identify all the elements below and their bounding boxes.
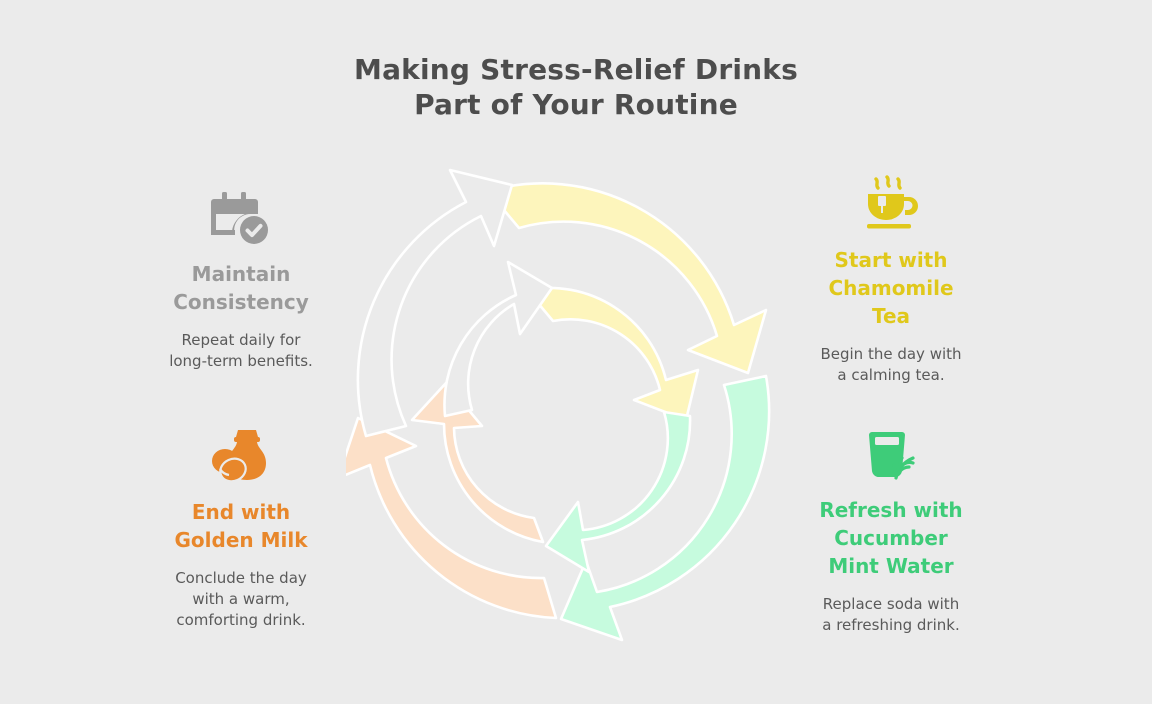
milk-jar-icon	[130, 424, 352, 486]
item-end-with-golden-milk: End with Golden Milk Conclude the day wi…	[130, 424, 352, 631]
item-heading-line-1: End with	[130, 498, 352, 526]
page-title-line-2: Part of Your Routine	[0, 87, 1152, 122]
cycle-arrow-inner-bottom-left	[412, 383, 543, 542]
item-body-line-2: with a warm,	[130, 589, 352, 610]
item-body: Begin the day with a calming tea.	[780, 344, 1002, 386]
item-heading-line-1: Refresh with	[780, 496, 1002, 524]
item-body-line-2: long-term benefits.	[130, 351, 352, 372]
item-heading-line-2: Consistency	[130, 288, 352, 316]
item-heading-line-1: Start with	[780, 246, 1002, 274]
mint-water-glass-icon	[780, 422, 1002, 484]
item-maintain-consistency: Maintain Consistency Repeat daily for lo…	[130, 186, 352, 372]
item-heading-line-3: Mint Water	[780, 552, 1002, 580]
item-body-line-1: Begin the day with	[780, 344, 1002, 365]
item-heading: End with Golden Milk	[130, 498, 352, 554]
page-title-line-1: Making Stress-Relief Drinks	[0, 52, 1152, 87]
item-heading: Start with Chamomile Tea	[780, 246, 1002, 330]
calendar-check-icon	[130, 186, 352, 248]
cycle-arrow-inner-top-right	[527, 288, 698, 420]
item-body-line-2: a refreshing drink.	[780, 615, 1002, 636]
item-body-line-1: Repeat daily for	[130, 330, 352, 351]
item-heading: Refresh with Cucumber Mint Water	[780, 496, 1002, 580]
item-body: Replace soda with a refreshing drink.	[780, 594, 1002, 636]
item-heading-line-2: Cucumber	[780, 524, 1002, 552]
item-body: Conclude the day with a warm, comforting…	[130, 568, 352, 631]
item-body-line-1: Conclude the day	[130, 568, 352, 589]
item-heading-line-1: Maintain	[130, 260, 352, 288]
item-start-with-chamomile-tea: Start with Chamomile Tea Begin the day w…	[780, 172, 1002, 386]
item-body-line-1: Replace soda with	[780, 594, 1002, 615]
item-refresh-with-cucumber-mint-water: Refresh with Cucumber Mint Water Replace…	[780, 422, 1002, 636]
cycle-diagram	[346, 158, 786, 646]
teacup-icon	[780, 172, 1002, 234]
item-heading: Maintain Consistency	[130, 260, 352, 316]
item-heading-line-2: Golden Milk	[130, 526, 352, 554]
item-heading-line-3: Tea	[780, 302, 1002, 330]
item-body: Repeat daily for long-term benefits.	[130, 330, 352, 372]
item-heading-line-2: Chamomile	[780, 274, 1002, 302]
item-body-line-3: comforting drink.	[130, 610, 352, 631]
cycle-arrow-inner-bottom-right	[546, 412, 690, 572]
cycle-arrow-inner-top-left	[444, 262, 552, 416]
page-title: Making Stress-Relief Drinks Part of Your…	[0, 52, 1152, 122]
item-body-line-2: a calming tea.	[780, 365, 1002, 386]
